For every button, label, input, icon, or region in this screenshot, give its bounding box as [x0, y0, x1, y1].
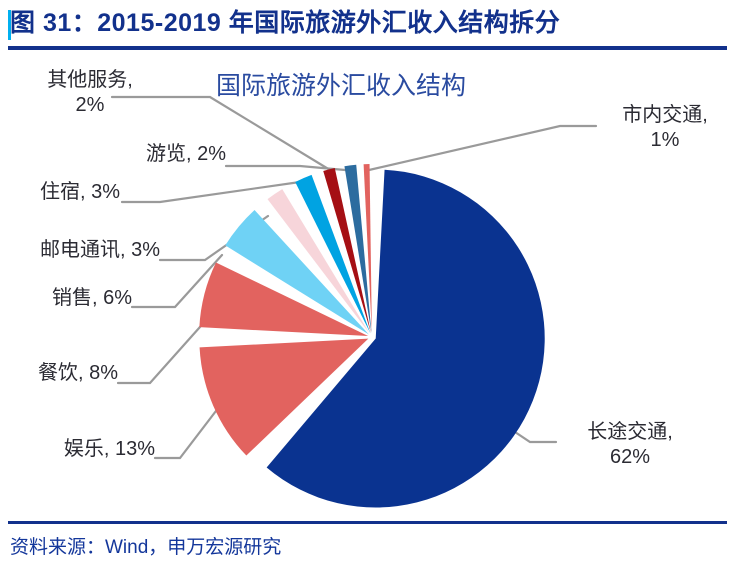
pie-label-销售: 销售, 6%: [0, 286, 132, 311]
pie-label-邮电通讯: 邮电通讯, 3%: [0, 238, 160, 263]
page-title: 图 31：2015-2019 年国际旅游外汇收入结构拆分: [10, 6, 560, 40]
pie-label-其他服务: 其他服务, 2%: [10, 68, 170, 118]
pie-slices: [199, 164, 544, 507]
pie-label-长途交通-line1: 长途交通,: [560, 420, 700, 445]
pie-label-市内交通-line1: 市内交通,: [600, 103, 730, 128]
figure-header: 图 31：2015-2019 年国际旅游外汇收入结构拆分: [0, 6, 735, 50]
pie-label-娱乐: 娱乐, 13%: [5, 437, 155, 462]
pie-label-长途交通-line2: 62%: [560, 445, 700, 470]
pie-label-住宿: 住宿, 3%: [0, 180, 120, 205]
source-note: 资料来源：Wind，申万宏源研究: [10, 534, 281, 562]
pie-label-长途交通: 长途交通, 62%: [560, 420, 700, 470]
pie-slice-长途交通[interactable]: [267, 170, 545, 508]
pie-label-市内交通: 市内交通, 1%: [600, 103, 730, 153]
footer-divider: [8, 521, 727, 524]
pie-label-餐饮: 餐饮, 8%: [0, 361, 118, 386]
pie-label-其他服务-line2: 2%: [10, 93, 170, 118]
pie-label-游览: 游览, 2%: [66, 142, 226, 167]
chart-title: 国际旅游外汇收入结构: [216, 70, 466, 102]
pie-label-其他服务-line1: 其他服务,: [10, 68, 170, 93]
pie-label-市内交通-line2: 1%: [600, 128, 730, 153]
pie-chart-area: 国际旅游外汇收入结构: [0, 50, 735, 520]
